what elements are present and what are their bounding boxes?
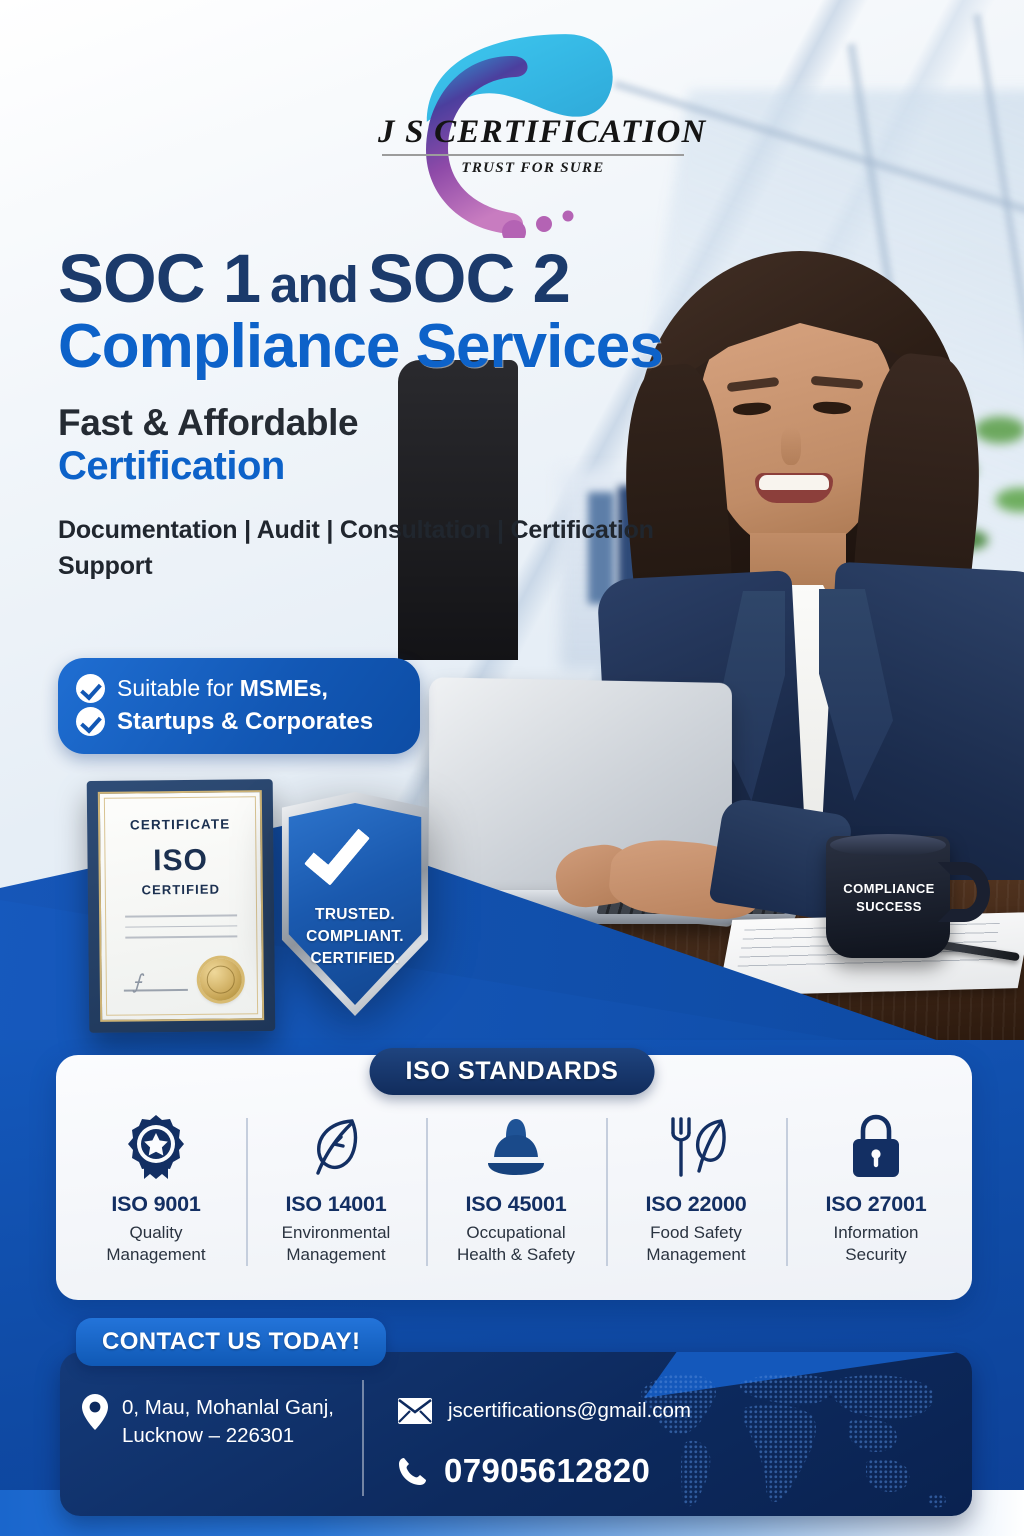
shield-text: TRUSTED. COMPLIANT. CERTIFIED.: [272, 904, 438, 970]
signature-icon: [124, 989, 188, 991]
address-line-1: 0, Mau, Mohanlal Ganj,: [122, 1394, 334, 1422]
mug-line-2: SUCCESS: [836, 898, 942, 916]
address-text: 0, Mau, Mohanlal Ganj, Lucknow – 226301: [122, 1394, 334, 1449]
iso-item-14001[interactable]: ISO 14001 Environmental Management: [246, 1110, 426, 1266]
phone-icon: [398, 1456, 428, 1486]
iso-desc: Quality Management: [72, 1222, 240, 1266]
iso-code: ISO 27001: [792, 1192, 960, 1217]
poster-canvas: COMPLIANCE SUCCESS J S C: [0, 0, 1024, 1536]
services-list: Documentation | Audit | Consultation | C…: [58, 512, 698, 585]
iso-item-45001[interactable]: ISO 45001 Occupational Health & Safety: [426, 1110, 606, 1266]
contact-phone[interactable]: 07905612820: [398, 1452, 650, 1490]
subhead-certification: Certification: [58, 444, 698, 488]
logo-tagline: TRUST FOR SURE: [378, 160, 688, 177]
mug-handle: [938, 862, 990, 922]
envelope-icon: [398, 1398, 432, 1424]
certificate-paper: CERTIFICATE ISO CERTIFIED: [98, 790, 264, 1022]
certificate-lines: [125, 914, 237, 938]
logo-company-name: J S CERTIFICATION: [378, 114, 688, 151]
iso-desc: Information Security: [792, 1222, 960, 1266]
padlock-icon: [792, 1110, 960, 1182]
logo-text: J S CERTIFICATION TRUST FOR SURE: [378, 114, 688, 177]
iso-desc: Occupational Health & Safety: [432, 1222, 600, 1266]
certificate-title: CERTIFICATE: [112, 816, 248, 832]
iso-code: ISO 45001: [432, 1192, 600, 1217]
certificate-certified: CERTIFIED: [113, 881, 249, 897]
iso-item-22000[interactable]: ISO 22000 Food Safety Management: [606, 1110, 786, 1266]
contact-us-pill[interactable]: CONTACT US TODAY!: [76, 1318, 386, 1366]
dotted-world-map: [624, 1360, 954, 1512]
leaf-icon: [252, 1110, 420, 1182]
iso-code: ISO 9001: [72, 1192, 240, 1217]
iso-standards-title: ISO STANDARDS: [370, 1048, 655, 1095]
contact-divider: [362, 1380, 364, 1496]
teeth: [759, 475, 829, 490]
shield-line-3: CERTIFIED.: [272, 948, 438, 970]
headline-line-1: SOC 1andSOC 2: [58, 246, 698, 312]
headline-soc1: SOC 1: [58, 240, 260, 317]
hard-hat-icon: [432, 1110, 600, 1182]
headline-block: SOC 1andSOC 2 Compliance Services Fast &…: [58, 246, 698, 584]
iso-code: ISO 14001: [252, 1192, 420, 1217]
subhead-fast-affordable: Fast & Affordable: [58, 402, 698, 444]
iso-item-27001[interactable]: ISO 27001 Information Security: [786, 1110, 966, 1266]
fork-leaf-icon: [612, 1110, 780, 1182]
trust-shield-badge: TRUSTED. COMPLIANT. CERTIFIED.: [272, 792, 438, 1016]
award-ribbon-icon: [72, 1110, 240, 1182]
mug-rim: [830, 834, 946, 856]
shield-line-1: TRUSTED.: [272, 904, 438, 926]
iso-desc: Food Safety Management: [612, 1222, 780, 1266]
brand-logo[interactable]: J S CERTIFICATION TRUST FOR SURE: [318, 18, 698, 238]
certificate-iso: ISO: [112, 843, 248, 878]
iso-desc: Environmental Management: [252, 1222, 420, 1266]
mug-text: COMPLIANCE SUCCESS: [836, 880, 942, 915]
mug-line-1: COMPLIANCE: [836, 880, 942, 898]
iso-standards-row: ISO 9001 Quality Management ISO 14001 En…: [66, 1110, 966, 1266]
suitable-row-1: Suitable for MSMEs,: [76, 674, 402, 703]
contact-address: 0, Mau, Mohanlal Ganj, Lucknow – 226301: [82, 1394, 334, 1449]
iso-item-9001[interactable]: ISO 9001 Quality Management: [66, 1110, 246, 1266]
shield-line-2: COMPLIANT.: [272, 926, 438, 948]
certificate-frame: CERTIFICATE ISO CERTIFIED: [87, 779, 276, 1033]
phone-text: 07905612820: [444, 1452, 650, 1490]
suitable-text-1: Suitable for MSMEs,: [117, 675, 328, 702]
headline-and: and: [270, 256, 358, 313]
iso-code: ISO 22000: [612, 1192, 780, 1217]
headline-line-2: Compliance Services: [58, 314, 698, 380]
gold-seal-icon: [200, 958, 242, 1000]
suitable-text-2: Startups & Corporates: [117, 708, 373, 736]
check-circle-icon: [76, 674, 105, 703]
headline-soc2: SOC 2: [368, 240, 570, 317]
map-pin-icon: [82, 1394, 108, 1430]
email-text: jscertifications@gmail.com: [448, 1399, 691, 1423]
suitable-row-2: Startups & Corporates: [76, 707, 402, 736]
nose: [781, 427, 801, 465]
address-line-2: Lucknow – 226301: [122, 1422, 334, 1450]
mouth: [755, 473, 833, 503]
suitable-for-badge: Suitable for MSMEs, Startups & Corporate…: [58, 658, 420, 754]
contact-email[interactable]: jscertifications@gmail.com: [398, 1398, 691, 1424]
logo-rule: [382, 154, 684, 156]
check-circle-icon: [76, 707, 105, 736]
